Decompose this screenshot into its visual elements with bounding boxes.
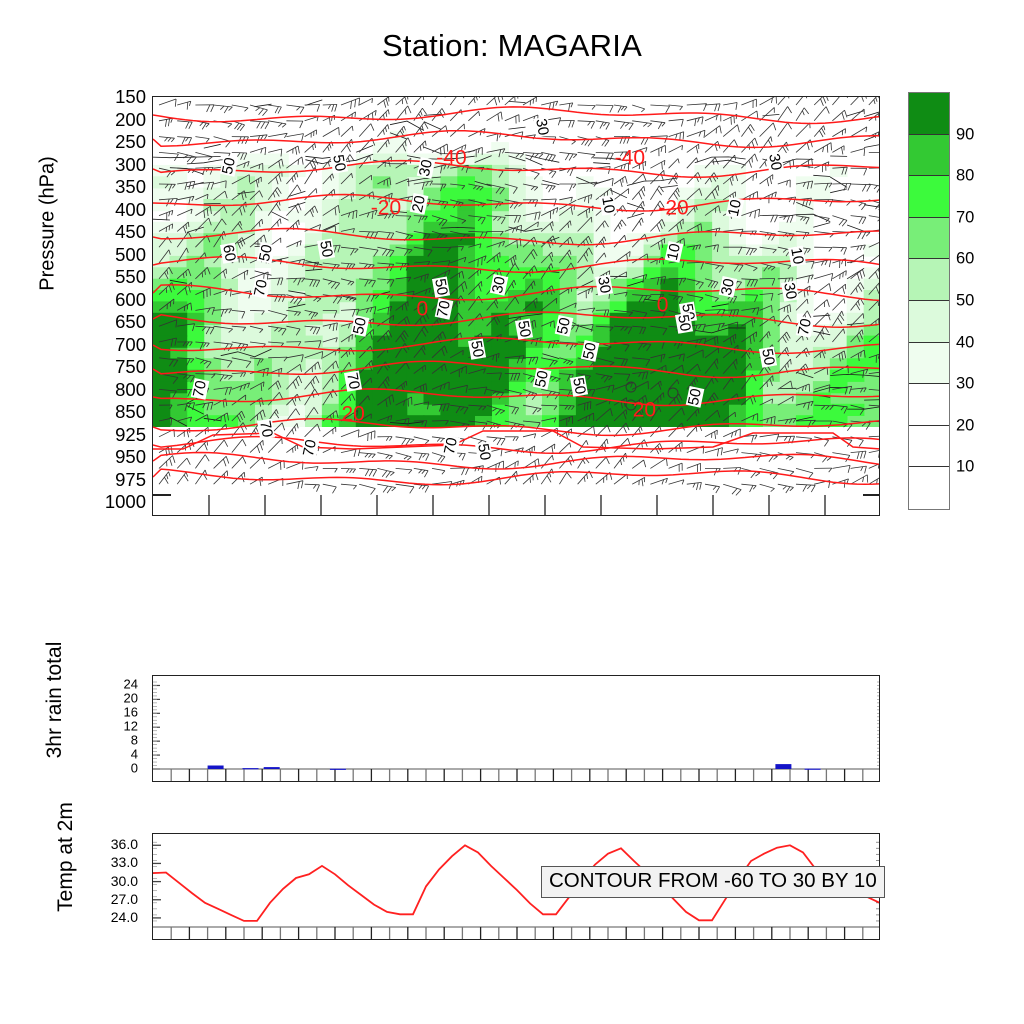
pressure-tick-350: 350 <box>84 178 146 197</box>
colorbar-label-80: 80 <box>956 167 974 186</box>
pressure-tick-650: 650 <box>84 313 146 332</box>
pressure-tick-700: 700 <box>84 335 146 354</box>
rain-bar <box>208 766 224 770</box>
rh-contour-label: 50 <box>317 239 335 260</box>
temp-tick-24.0: 24.0 <box>78 910 138 924</box>
rh-contour-label: 50 <box>432 276 450 297</box>
pressure-tick-250: 250 <box>84 133 146 152</box>
pressure-tick-200: 200 <box>84 110 146 129</box>
pressure-tick-500: 500 <box>84 245 146 264</box>
rain-bar <box>330 769 346 770</box>
colorbar-label-50: 50 <box>956 292 974 311</box>
rain-bar <box>775 764 791 769</box>
pressure-tick-750: 750 <box>84 358 146 377</box>
colorbar-label-20: 20 <box>956 416 974 435</box>
pressure-tick-975: 975 <box>84 470 146 489</box>
colorbar-label-40: 40 <box>956 333 974 352</box>
contour-note: CONTOUR FROM -60 TO 30 BY 10 <box>541 866 885 898</box>
temp-axis-labels: 36.033.030.027.024.0 <box>78 833 146 940</box>
rh-contour-label: 50 <box>475 441 493 462</box>
rain-tick-8: 8 <box>92 734 138 747</box>
rain-bar <box>264 767 280 769</box>
rh-contour-label: 50 <box>468 338 486 359</box>
rh-contour-label: 30 <box>533 117 551 138</box>
colorbar-band-6 <box>909 343 949 385</box>
rh-contour-label: 50 <box>555 315 574 336</box>
rain-panel <box>152 675 880 782</box>
colorbar-label-90: 90 <box>956 125 974 144</box>
rain-axis-title: 3hr rain total <box>43 620 67 780</box>
rh-contour-label: 50 <box>257 243 276 264</box>
colorbar-band-1 <box>909 135 949 177</box>
rh-contour-label: 70 <box>251 277 270 298</box>
rh-contour-label: 70 <box>435 298 454 319</box>
rain-bar <box>243 768 259 769</box>
rh-contour-label: 70 <box>257 418 275 439</box>
rh-contour-label: 50 <box>675 312 693 333</box>
rain-bar-chart <box>153 676 880 782</box>
rain-bar <box>805 769 821 770</box>
rain-tick-16: 16 <box>92 706 138 719</box>
humidity-colorbar-labels: 908070605040302010 <box>956 92 1016 510</box>
rh-contour-label: 10 <box>664 241 683 262</box>
page-title: Station: MAGARIA <box>0 28 1024 64</box>
temperature-contour-label: 20 <box>632 399 657 420</box>
temperature-contour-label: -40 <box>435 147 467 168</box>
temperature-contour-label: 0 <box>416 299 430 320</box>
pressure-axis-labels: 1502002503003504004505005506006507007508… <box>72 96 146 516</box>
rh-contour-label: 10 <box>788 245 806 266</box>
rh-contour-label: 70 <box>442 435 461 456</box>
colorbar-label-60: 60 <box>956 250 974 269</box>
rain-tick-4: 4 <box>92 748 138 761</box>
rain-tick-20: 20 <box>92 692 138 705</box>
cross-section-panel: 3050503030201010605050101070503030303070… <box>152 96 880 516</box>
colorbar-label-70: 70 <box>956 208 974 227</box>
pressure-tick-925: 925 <box>84 425 146 444</box>
rh-contour-label: 10 <box>599 195 617 216</box>
pressure-tick-400: 400 <box>84 200 146 219</box>
pressure-tick-850: 850 <box>84 403 146 422</box>
rh-contour-label: 20 <box>409 193 428 214</box>
rh-contour-label: 70 <box>795 316 814 337</box>
temp-axis-title: Temp at 2m <box>54 787 78 927</box>
colorbar-band-2 <box>909 176 949 218</box>
rh-contour-label: 70 <box>300 437 319 458</box>
rh-contour-label: 30 <box>490 274 509 295</box>
rh-contour-label: 50 <box>533 369 552 390</box>
rh-contour-label: 30 <box>781 281 799 302</box>
pressure-tick-450: 450 <box>84 223 146 242</box>
colorbar-label-10: 10 <box>956 458 974 477</box>
colorbar-band-8 <box>909 426 949 468</box>
rh-contour-label: 50 <box>330 153 348 174</box>
rh-contour-label: 60 <box>220 243 238 264</box>
temperature-contour-label: 0 <box>656 294 670 315</box>
rh-contour-label: 30 <box>766 152 784 173</box>
rh-contour-label: 30 <box>719 276 738 297</box>
pressure-tick-300: 300 <box>84 155 146 174</box>
temp-tick-27.0: 27.0 <box>78 892 138 906</box>
colorbar-band-3 <box>909 218 949 260</box>
cross-section-plot-area: 3050503030201010605050101070503030303070… <box>152 96 880 516</box>
colorbar-band-9 <box>909 467 949 509</box>
rain-tick-12: 12 <box>92 720 138 733</box>
pressure-tick-950: 950 <box>84 448 146 467</box>
pressure-tick-550: 550 <box>84 268 146 287</box>
temperature-contour-label: -40 <box>614 147 646 168</box>
rh-contour-label: 30 <box>595 275 613 296</box>
temperature-contour-label: 20 <box>341 404 366 425</box>
rh-contour-label: 70 <box>191 378 210 399</box>
pressure-tick-600: 600 <box>84 290 146 309</box>
rh-contour-label: 30 <box>417 157 436 178</box>
rain-tick-0: 0 <box>92 762 138 775</box>
colorbar-band-0 <box>909 93 949 135</box>
pressure-tick-800: 800 <box>84 380 146 399</box>
colorbar-band-5 <box>909 301 949 343</box>
rh-contour-label: 70 <box>344 370 362 391</box>
temp-tick-30.0: 30.0 <box>78 874 138 888</box>
rh-contour-label: 50 <box>351 315 370 336</box>
colorbar-label-30: 30 <box>956 375 974 394</box>
rh-contour-label: 50 <box>515 319 533 340</box>
humidity-colorbar <box>908 92 950 510</box>
temperature-contour-label: -20 <box>370 198 402 219</box>
colorbar-band-7 <box>909 384 949 426</box>
temp-tick-33.0: 33.0 <box>78 855 138 869</box>
rh-contour-label: 50 <box>570 375 588 396</box>
rain-tick-24: 24 <box>92 678 138 691</box>
rh-contour-label: 50 <box>686 387 705 408</box>
pressure-axis-title: Pressure (hPa) <box>37 114 60 334</box>
rh-contour-label: 10 <box>726 198 745 219</box>
colorbar-band-4 <box>909 259 949 301</box>
pressure-tick-150: 150 <box>84 88 146 107</box>
rain-axis-labels: 04812162024 <box>92 675 146 782</box>
rh-contour-label: 50 <box>220 156 239 177</box>
rh-contour-label: 50 <box>759 347 777 368</box>
pressure-tick-1000: 1000 <box>84 493 146 512</box>
temperature-contour-label: -20 <box>657 198 689 219</box>
temp-tick-36.0: 36.0 <box>78 837 138 851</box>
rh-contour-label: 50 <box>581 340 600 361</box>
